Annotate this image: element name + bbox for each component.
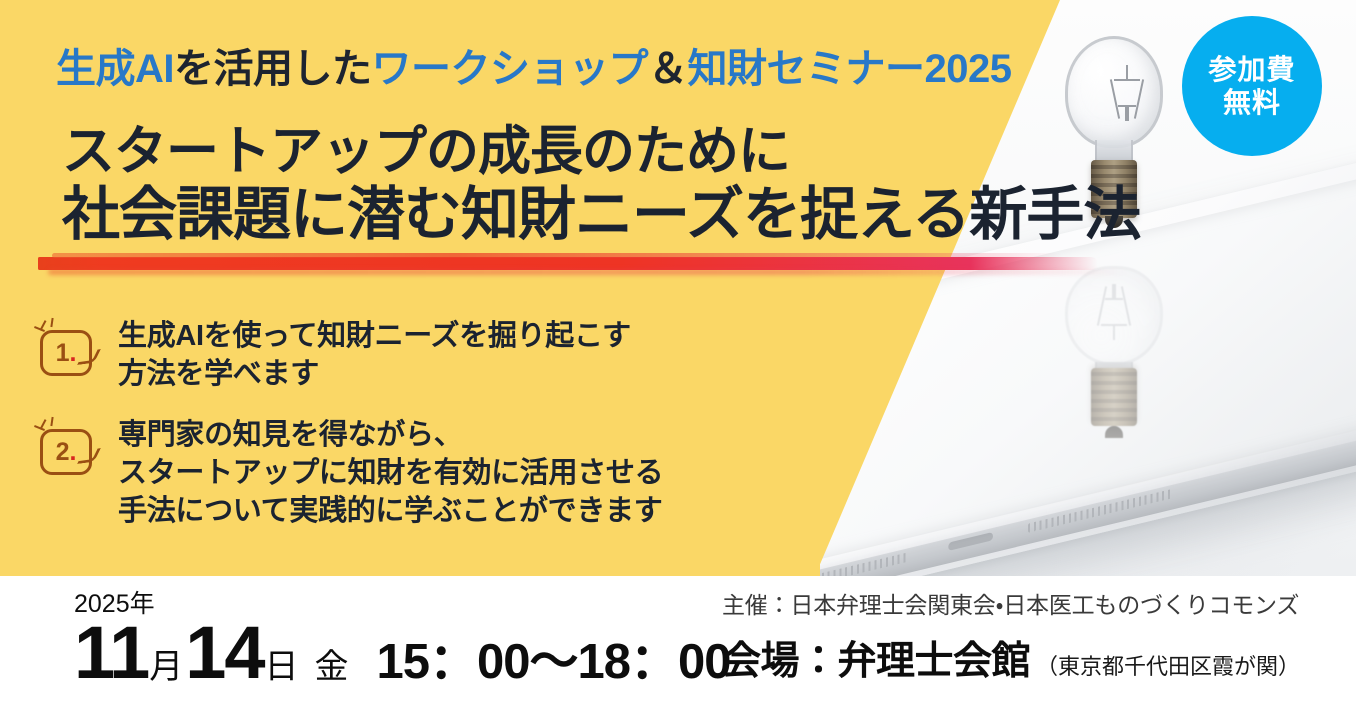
bullet-number-dot: . <box>69 440 76 465</box>
list-item-text: 生成AIを使って知財ニーズを掘り起こす 方法を学べます <box>118 318 631 393</box>
badge-line-1: 参加費 <box>1208 53 1295 86</box>
seminar-poster: 生成AIを活用したワークショップ＆知財セミナー2025 スタートアップの成長のた… <box>0 0 1356 708</box>
list-item: 2. 専門家の知見を得ながら、 スタートアップに知財を有効に活用させる 手法につ… <box>34 417 774 530</box>
red-brush-underline <box>38 252 1268 278</box>
bullet-2-line-2: スタートアップに知財を有効に活用させる <box>118 455 663 493</box>
venue-line: 会場：弁理士会館 （東京都千代田区霞が関） <box>722 630 1300 686</box>
spark-line-icon <box>34 425 45 431</box>
free-admission-badge: 参加費 無料 <box>1182 16 1322 156</box>
event-day-unit: 日 <box>265 650 299 684</box>
list-item-text: 専門家の知見を得ながら、 スタートアップに知財を有効に活用させる 手法について実… <box>118 417 663 530</box>
kicker-segment-4: ＆ <box>648 47 688 91</box>
page-title: スタートアップの成長のために 社会課題に潜む知財ニーズを捉える新手法 <box>62 122 1140 248</box>
event-time: 15：00〜18：00 <box>377 638 731 687</box>
bullet-2-line-3: 手法について実践的に学ぶことができます <box>118 493 663 531</box>
lightbulb-reflection <box>1055 252 1175 432</box>
yellow-panel-bottom-strip <box>0 556 820 576</box>
spark-line-icon <box>50 318 53 327</box>
venue-name: 会場：弁理士会館 <box>722 630 1030 686</box>
event-details-bar: 2025年 11 月 14 日 金 15：00〜18：00 主催：日本弁理士会関… <box>0 576 1356 708</box>
bullet-1-line-2: 方法を学べます <box>118 356 631 394</box>
event-day-number: 14 <box>185 619 263 687</box>
bullet-marker-2: 2. <box>34 421 96 475</box>
title-line-1: スタートアップの成長のために <box>62 122 1140 181</box>
kicker-segment-3: ワークショップ <box>372 47 649 91</box>
title-line-2: 社会課題に潜む知財ニーズを捉える新手法 <box>62 183 1140 248</box>
venue-address: （東京都千代田区霞が関） <box>1036 649 1300 681</box>
organizer-text: 主催：日本弁理士会関東会・日本医工ものづくりコモンズ <box>722 586 1300 620</box>
bullet-marker-1: 1. <box>34 322 96 376</box>
spark-line-icon <box>50 417 53 426</box>
event-year: 2025年 <box>74 592 731 617</box>
bullet-1-line-1: 生成AIを使って知財ニーズを掘り起こす <box>118 318 631 356</box>
organizer-venue-block: 主催：日本弁理士会関東会・日本医工ものづくりコモンズ 会場：弁理士会館 （東京都… <box>722 586 1300 686</box>
event-date-line: 11 月 14 日 金 15：00〜18：00 <box>74 619 731 687</box>
bullet-number-dot: . <box>69 341 76 366</box>
kicker-segment-5: 知財セミナー2025 <box>688 47 1012 91</box>
bullet-2-line-1: 専門家の知見を得ながら、 <box>118 417 663 455</box>
benefit-list: 1. 生成AIを使って知財ニーズを掘り起こす 方法を学べます 2. 専門家の知見… <box>34 318 774 530</box>
lightbulb-filament <box>1112 65 1142 127</box>
kicker-headline: 生成AIを活用したワークショップ＆知財セミナー2025 <box>56 36 1011 94</box>
kicker-segment-1: 生成AI <box>56 47 174 91</box>
event-month-unit: 月 <box>149 650 183 684</box>
bullet-number: 2 <box>56 440 70 465</box>
bullet-number: 1 <box>56 341 70 366</box>
event-month-number: 11 <box>74 619 148 687</box>
list-item: 1. 生成AIを使って知財ニーズを掘り起こす 方法を学べます <box>34 318 774 393</box>
kicker-segment-2: を活用した <box>174 47 372 91</box>
event-date-block: 2025年 11 月 14 日 金 15：00〜18：00 <box>74 592 731 687</box>
badge-line-2: 無料 <box>1223 86 1281 119</box>
event-day-of-week: 金 <box>315 650 349 684</box>
